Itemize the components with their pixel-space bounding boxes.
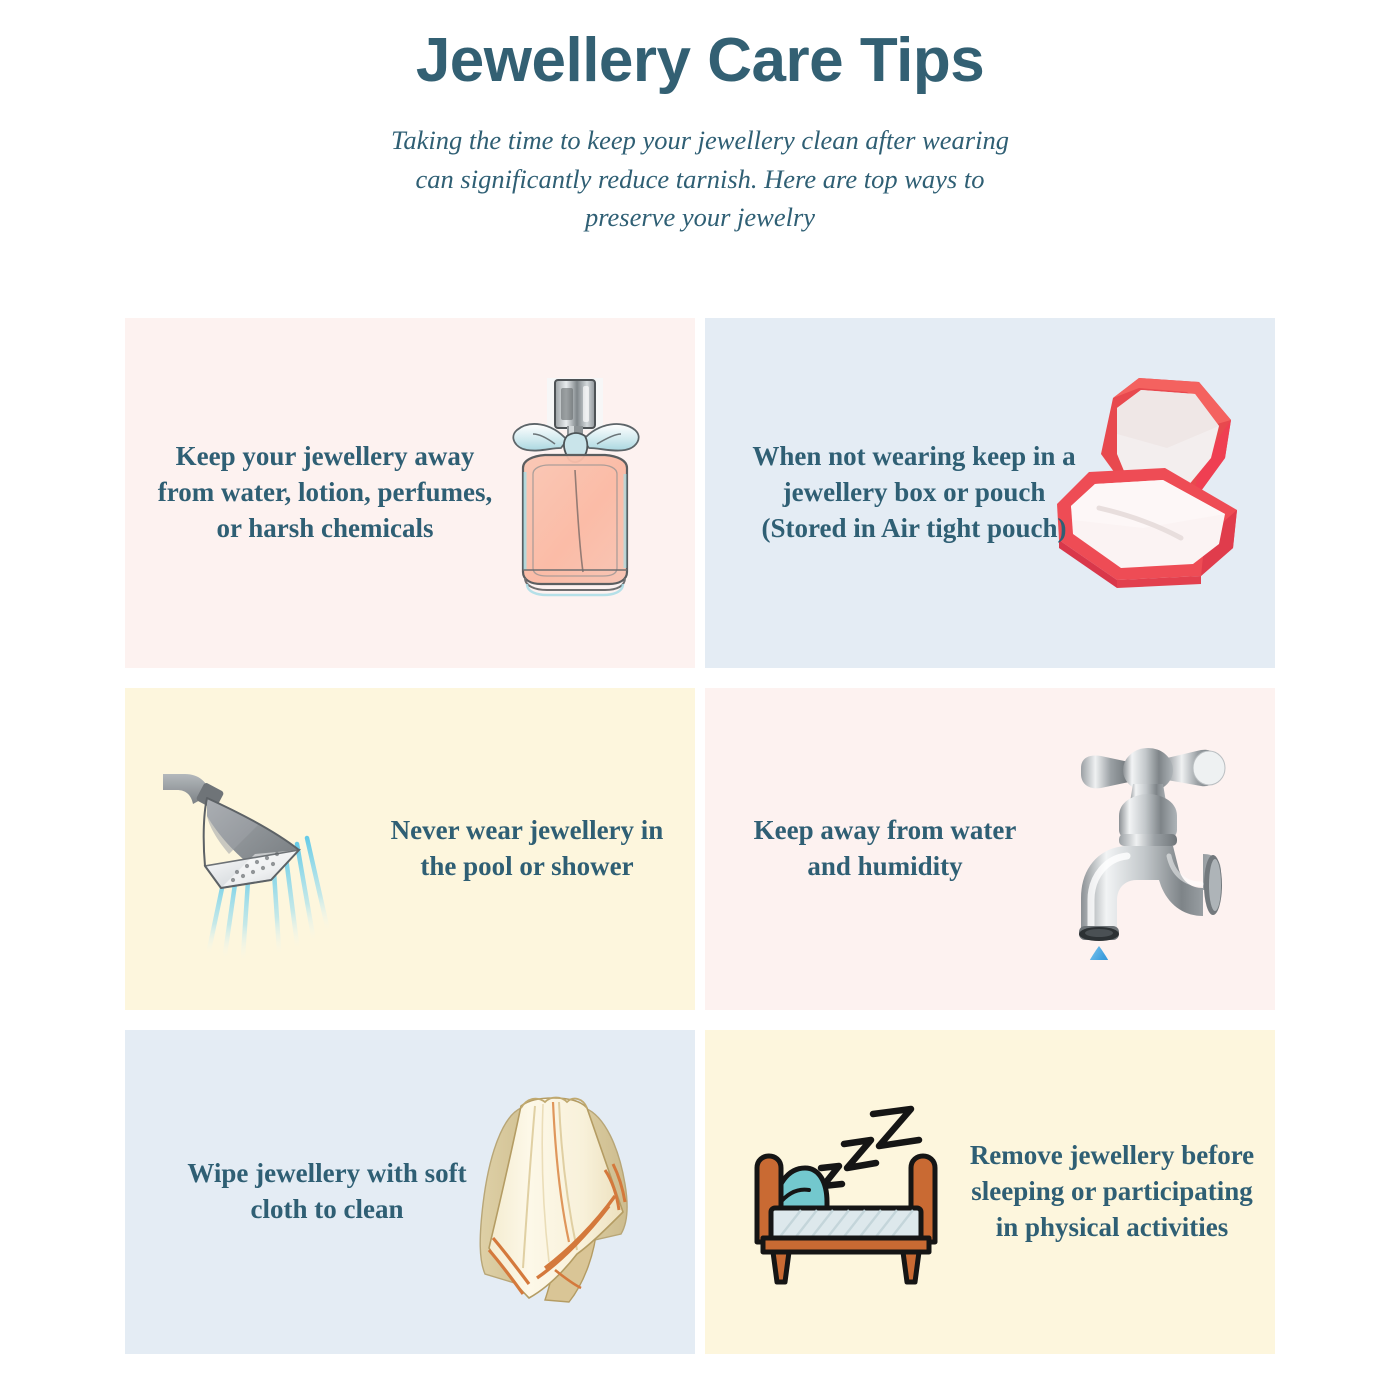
page-subtitle: Taking the time to keep your jewellery c… (380, 121, 1020, 236)
infographic-page: Jewellery Care Tips Taking the time to k… (0, 0, 1400, 1400)
tip-card-1: Keep your jewellery away from water, lot… (125, 318, 695, 668)
tip-card-4: Keep away from water and humidity (705, 688, 1275, 1010)
tip-card-3: Never wear jewellery in the pool or show… (125, 688, 695, 1010)
tips-grid: Keep your jewellery away from water, lot… (125, 318, 1275, 1354)
tip-card-2-text: When not wearing keep in a jewellery box… (749, 439, 1079, 547)
tip-card-3-text: Never wear jewellery in the pool or show… (377, 813, 677, 885)
faucet-icon (1063, 730, 1233, 960)
tip-card-5: Wipe jewellery with soft cloth to clean (125, 1030, 695, 1354)
tip-card-4-text: Keep away from water and humidity (749, 813, 1021, 885)
perfume-bottle-icon (489, 364, 661, 606)
cloth-icon (473, 1092, 649, 1308)
tip-card-6: Remove jewellery before sleeping or part… (705, 1030, 1275, 1354)
bed-sleeping-icon (743, 1102, 949, 1288)
tip-card-5-text: Wipe jewellery with soft cloth to clean (177, 1156, 477, 1228)
shower-head-icon (159, 754, 359, 966)
page-title: Jewellery Care Tips (0, 26, 1400, 95)
tip-card-2: When not wearing keep in a jewellery box… (705, 318, 1275, 668)
tip-card-1-text: Keep your jewellery away from water, lot… (149, 439, 501, 547)
header: Jewellery Care Tips Taking the time to k… (0, 0, 1400, 237)
tip-card-6-text: Remove jewellery before sleeping or part… (967, 1138, 1257, 1246)
